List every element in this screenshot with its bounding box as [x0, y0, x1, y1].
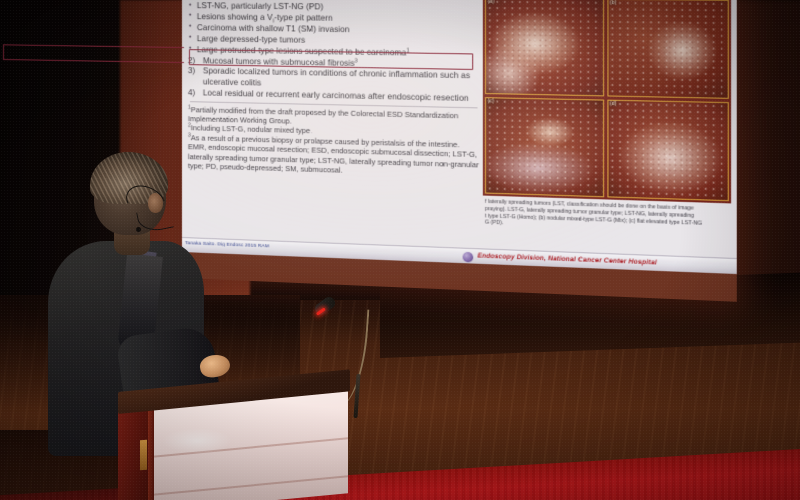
podium-light-reflection — [162, 428, 232, 454]
podium — [118, 392, 350, 500]
panel-label: (c) — [488, 98, 494, 104]
endoscopy-panel-d: (d) — [607, 100, 729, 202]
panel-label: (a) — [488, 0, 495, 5]
endoscopy-panel-a: (a) — [485, 0, 604, 96]
endoscopy-image — [608, 101, 728, 200]
podium-seam — [150, 475, 348, 495]
endoscopy-panel-b: (b) — [607, 0, 729, 99]
slide-numbered-list: 2) Mucosal tumors with submucosal fibros… — [188, 56, 480, 105]
item-number: 2) — [188, 56, 195, 67]
mucosa-texture — [486, 0, 602, 95]
endoscopy-panel-c: (c) — [485, 97, 604, 197]
slide-bullet-list: LST-NG, particularly LST-NG (PD) Lesions… — [188, 1, 480, 60]
projection-screen: …cult to apply LST-NG, particularly LST-… — [182, 0, 737, 302]
mucosa-texture — [608, 0, 728, 98]
hospital-logo-icon — [463, 251, 474, 262]
footnote-marker: 3 — [355, 58, 358, 64]
item-number: 4) — [188, 88, 195, 99]
slide-body: …cult to apply LST-NG, particularly LST-… — [182, 0, 737, 258]
endoscopy-image-grid: (a) (b) (c) (d) — [483, 0, 731, 203]
lecture-hall-scene: …cult to apply LST-NG, particularly LST-… — [0, 0, 800, 500]
podium-edge — [148, 407, 154, 500]
endoscopy-image — [608, 0, 728, 98]
presentation-slide: …cult to apply LST-NG, particularly LST-… — [182, 0, 737, 274]
panel-label: (b) — [610, 0, 617, 6]
panel-label: (d) — [610, 101, 617, 107]
footnote-marker: 1 — [406, 47, 409, 53]
headset-mic-capsule — [136, 227, 141, 232]
figure-caption: f laterally spreading tumors (LST, class… — [483, 196, 731, 236]
mucosa-texture — [608, 101, 728, 200]
item-number: 3) — [188, 67, 195, 78]
mucosa-texture — [486, 98, 602, 196]
endoscopy-image — [486, 0, 602, 95]
organization-name: Endoscopy Division, National Cancer Cent… — [477, 253, 656, 267]
slide-figure-column: (a) (b) (c) (d) — [483, 0, 731, 258]
podium-accent-strip — [140, 440, 147, 471]
endoscopy-image — [486, 98, 602, 196]
